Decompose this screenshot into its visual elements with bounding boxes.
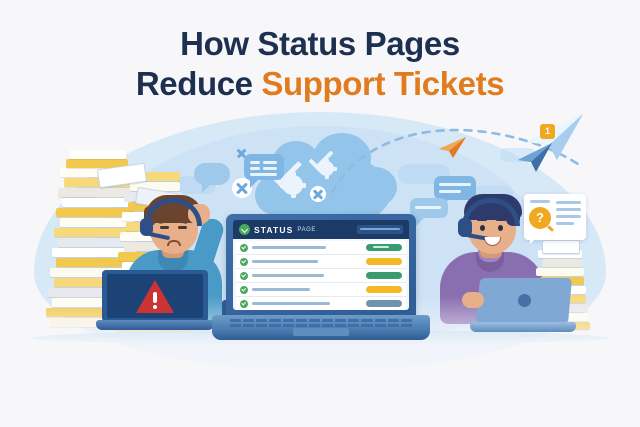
left-laptop	[96, 270, 214, 332]
service-name-placeholder	[252, 246, 326, 249]
status-page-brand: STATUS	[254, 225, 293, 235]
service-name-placeholder	[252, 274, 324, 277]
question-search-icon: ?	[529, 207, 551, 229]
check-circle-icon	[239, 224, 250, 235]
status-badge	[366, 244, 402, 251]
laptop-screen: STATUS PAGE	[233, 220, 409, 310]
status-page-laptop: STATUS PAGE	[212, 214, 430, 344]
chat-bubble-tail	[250, 179, 259, 188]
notification-badge: 1	[540, 124, 555, 139]
status-page-brand-secondary: PAGE	[297, 227, 316, 233]
check-circle-icon	[240, 286, 248, 294]
title-line-2-plain: Reduce	[136, 65, 262, 102]
status-badge	[366, 300, 402, 307]
title-line-2: Reduce Support Tickets	[0, 64, 640, 104]
status-badge	[366, 286, 402, 293]
check-circle-icon	[240, 244, 248, 252]
check-circle-icon	[240, 272, 248, 280]
help-card-tail	[530, 236, 538, 244]
status-row[interactable]	[236, 283, 406, 297]
illustration-canvas: 1 How Status Pages Reduce Support Ticket…	[0, 0, 640, 427]
title-line-2-accent: Support Tickets	[261, 65, 504, 102]
paper-plane-icon	[516, 142, 554, 174]
close-icon	[310, 186, 326, 202]
status-page-meta-placeholder	[357, 225, 403, 234]
right-laptop	[470, 278, 576, 336]
status-row[interactable]	[236, 255, 406, 269]
chat-bubble	[194, 163, 230, 185]
title-line-1: How Status Pages	[0, 24, 640, 64]
help-card: ?	[524, 194, 586, 240]
status-page-rows	[233, 239, 409, 310]
laptop-base	[212, 315, 430, 340]
check-circle-icon	[240, 300, 248, 308]
service-name-placeholder	[252, 260, 318, 263]
laptop-trackpad	[293, 328, 349, 336]
page-title: How Status Pages Reduce Support Tickets	[0, 24, 640, 104]
laptop-lid: STATUS PAGE	[226, 214, 416, 318]
status-row[interactable]	[236, 297, 406, 310]
chat-bubble	[244, 154, 284, 180]
status-page-header: STATUS PAGE	[233, 220, 409, 239]
status-badge	[366, 258, 402, 265]
service-name-placeholder	[252, 302, 330, 305]
status-row[interactable]	[236, 241, 406, 255]
keyboard-row	[230, 324, 412, 327]
check-circle-icon	[240, 258, 248, 266]
envelope	[542, 240, 580, 254]
laptop-logo	[518, 294, 531, 307]
status-row[interactable]	[236, 269, 406, 283]
paper-plane-icon	[438, 136, 468, 160]
keyboard-row	[230, 319, 412, 322]
hand	[462, 292, 484, 308]
status-badge	[366, 272, 402, 279]
service-name-placeholder	[252, 288, 310, 291]
